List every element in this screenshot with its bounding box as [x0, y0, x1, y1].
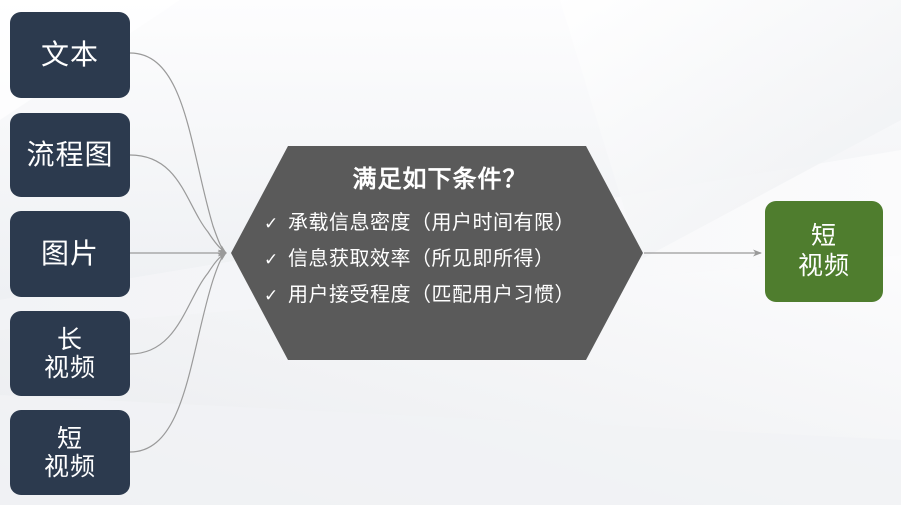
source-box-long-video[interactable]: 长 视频 [10, 311, 130, 396]
check-icon: ✓ [264, 286, 288, 306]
source-box-image[interactable]: 图片 [10, 211, 130, 297]
condition-item: ✓ 用户接受程度（匹配用户习惯） [264, 278, 643, 307]
check-icon: ✓ [264, 214, 288, 234]
check-icon: ✓ [264, 250, 288, 270]
condition-label: 承载信息密度（用户时间有限） [288, 206, 575, 235]
condition-label: 信息获取效率（所见即所得） [288, 242, 555, 271]
decision-hexagon[interactable]: 满足如下条件？ ✓ 承载信息密度（用户时间有限） ✓ 信息获取效率（所见即所得）… [231, 146, 643, 360]
decision-title: 满足如下条件？ [237, 159, 643, 194]
condition-item: ✓ 承载信息密度（用户时间有限） [264, 206, 643, 235]
result-box-short-video[interactable]: 短 视频 [765, 201, 883, 302]
condition-list: ✓ 承载信息密度（用户时间有限） ✓ 信息获取效率（所见即所得） ✓ 用户接受程… [264, 206, 643, 307]
slide-canvas: 文本 流程图 图片 长 视频 短 视频 满足如下条件？ ✓ 承载信息密度（用户时… [0, 0, 901, 505]
condition-item: ✓ 信息获取效率（所见即所得） [264, 242, 643, 271]
source-box-flowchart[interactable]: 流程图 [10, 113, 130, 197]
source-box-text[interactable]: 文本 [10, 12, 130, 98]
decision-content: 满足如下条件？ ✓ 承载信息密度（用户时间有限） ✓ 信息获取效率（所见即所得）… [231, 146, 643, 360]
condition-label: 用户接受程度（匹配用户习惯） [288, 278, 575, 307]
source-box-short-video[interactable]: 短 视频 [10, 410, 130, 495]
